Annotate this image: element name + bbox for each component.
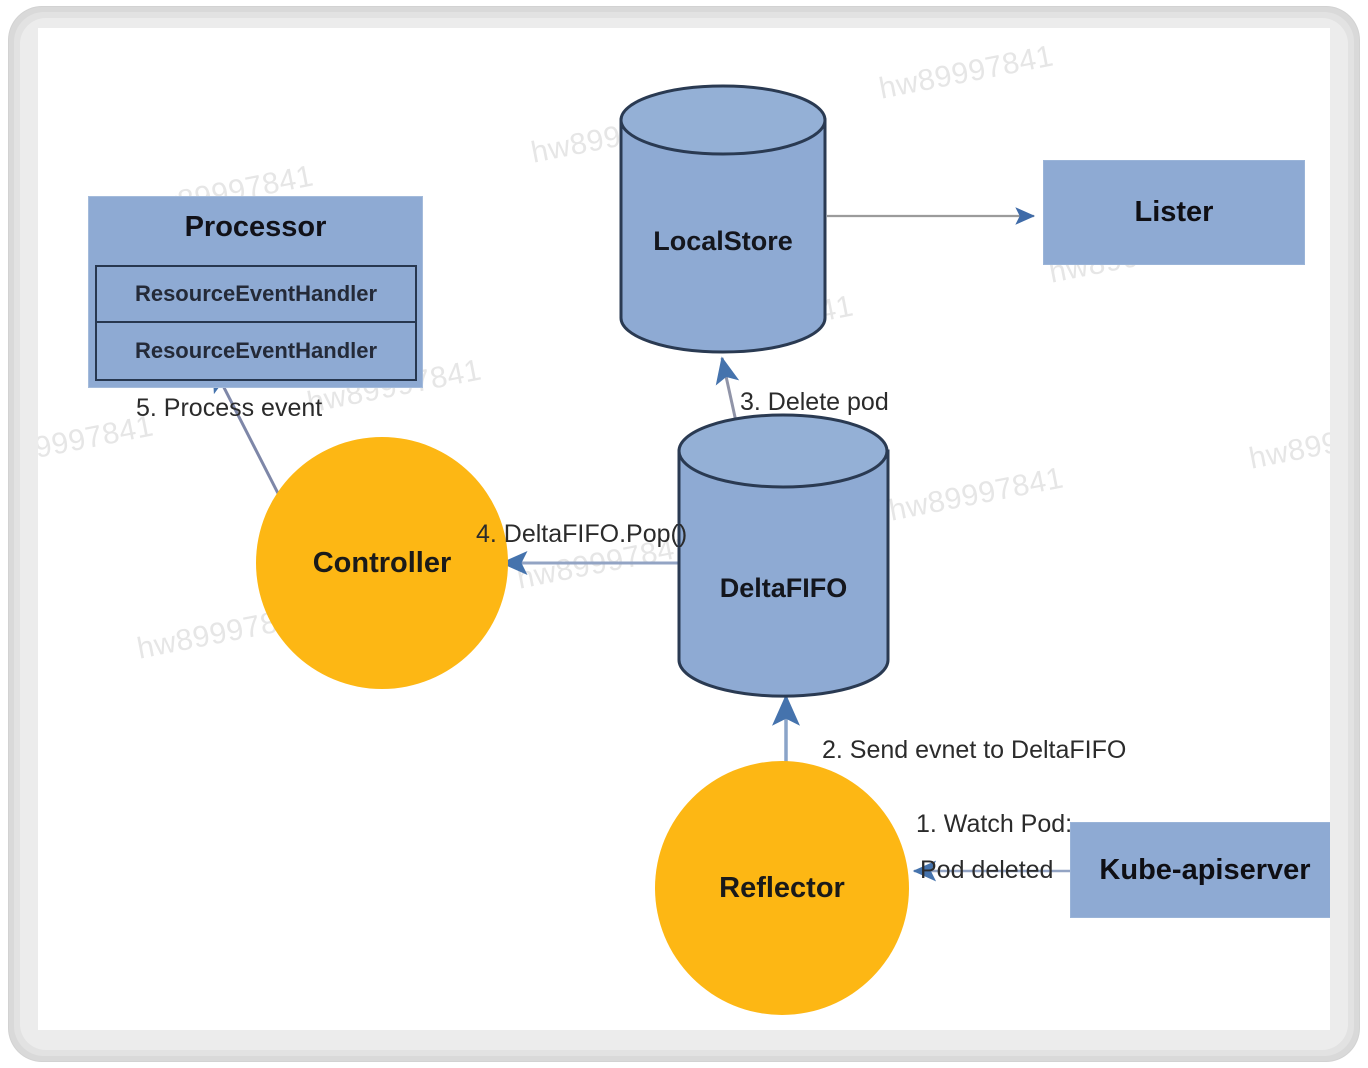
node-localstore[interactable]: LocalStore bbox=[618, 84, 828, 354]
edge-label-pop: 4. DeltaFIFO.Pop() bbox=[476, 520, 687, 549]
edge-label-delete-pod: 3. Delete pod bbox=[740, 388, 889, 417]
lister-label: Lister bbox=[1135, 196, 1214, 229]
resource-event-handler-2[interactable]: ResourceEventHandler bbox=[97, 323, 415, 379]
watermark: hw89997841 bbox=[876, 39, 1056, 106]
controller-label: Controller bbox=[313, 547, 452, 580]
diagram-page: hw89997841 hw89997841 hw89997841 hw89997… bbox=[0, 0, 1368, 1068]
localstore-label: LocalStore bbox=[618, 226, 828, 257]
node-controller[interactable]: Controller bbox=[256, 437, 508, 689]
resource-event-handler-1[interactable]: ResourceEventHandler bbox=[97, 267, 415, 323]
kube-apiserver-label: Kube-apiserver bbox=[1099, 854, 1310, 887]
resource-event-handler-stack: ResourceEventHandler ResourceEventHandle… bbox=[95, 265, 417, 381]
reflector-label: Reflector bbox=[719, 872, 845, 905]
deltafifo-cylinder-shape bbox=[676, 413, 891, 698]
edge-label-watch-pod-line2: Pod deleted bbox=[920, 856, 1053, 885]
processor-title: Processor bbox=[89, 211, 422, 244]
node-deltafifo[interactable]: DeltaFIFO bbox=[676, 413, 891, 698]
node-kube-apiserver[interactable]: Kube-apiserver bbox=[1070, 822, 1330, 918]
node-reflector[interactable]: Reflector bbox=[655, 761, 909, 1015]
watermark: hw89997841 bbox=[1246, 409, 1330, 476]
node-processor[interactable]: Processor ResourceEventHandler ResourceE… bbox=[88, 196, 423, 388]
localstore-cylinder-shape bbox=[618, 84, 828, 354]
edge-label-watch-pod-line1: 1. Watch Pod: bbox=[916, 810, 1072, 839]
diagram-canvas: hw89997841 hw89997841 hw89997841 hw89997… bbox=[38, 28, 1330, 1030]
watermark: hw89997841 bbox=[886, 461, 1066, 528]
deltafifo-label: DeltaFIFO bbox=[676, 573, 891, 604]
edge-label-send-event: 2. Send evnet to DeltaFIFO bbox=[822, 736, 1126, 765]
edge-label-process-event: 5. Process event bbox=[136, 394, 322, 423]
node-lister[interactable]: Lister bbox=[1043, 160, 1305, 265]
